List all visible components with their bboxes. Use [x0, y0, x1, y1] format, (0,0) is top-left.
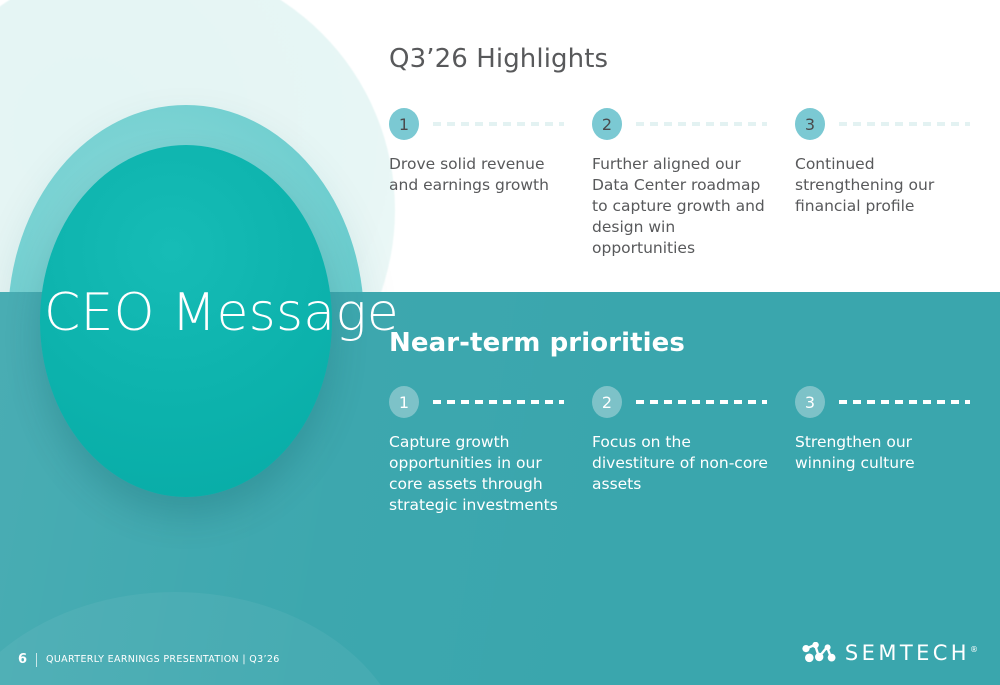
semtech-wordmark: SEMTECH® — [845, 641, 978, 665]
trademark-symbol: ® — [970, 645, 978, 654]
dashed-connector — [636, 400, 767, 404]
highlights-section: Q3’26 Highlights 1 Drove solid revenue a… — [389, 44, 1000, 259]
priority-item-head: 3 — [795, 386, 972, 418]
highlights-items: 1 Drove solid revenue and earnings growt… — [389, 108, 1000, 259]
footer-caption: QUARTERLY EARNINGS PRESENTATION | Q3’26 — [46, 654, 280, 665]
priority-item-head: 2 — [592, 386, 769, 418]
highlight-badge-2: 2 — [592, 108, 622, 140]
highlight-item: 1 Drove solid revenue and earnings growt… — [389, 108, 592, 196]
dashed-connector — [839, 122, 970, 126]
hero-title: CEO Message — [44, 283, 399, 343]
priority-item-head: 1 — [389, 386, 566, 418]
semtech-molecule-icon — [802, 642, 836, 664]
highlight-text-3: Continued strengthening our financial pr… — [795, 154, 972, 217]
highlight-item-head: 3 — [795, 108, 972, 140]
slide-footer: 6 QUARTERLY EARNINGS PRESENTATION | Q3’2… — [18, 652, 280, 667]
semtech-logo: SEMTECH® — [802, 641, 978, 665]
highlight-item: 3 Continued strengthening our financial … — [795, 108, 998, 217]
priorities-title: Near-term priorities — [389, 328, 1000, 358]
priority-item: 2 Focus on the divestiture of non-core a… — [592, 386, 795, 495]
priority-badge-1: 1 — [389, 386, 419, 418]
dashed-connector — [433, 122, 564, 126]
highlight-badge-3: 3 — [795, 108, 825, 140]
priority-item: 3 Strengthen our winning culture — [795, 386, 998, 474]
semtech-wordmark-text: SEMTECH — [845, 641, 970, 665]
priority-item: 1 Capture growth opportunities in our co… — [389, 386, 592, 516]
priority-text-1: Capture growth opportunities in our core… — [389, 432, 566, 516]
highlights-title: Q3’26 Highlights — [389, 44, 1000, 74]
dashed-connector — [839, 400, 970, 404]
priority-badge-2: 2 — [592, 386, 622, 418]
priorities-section: Near-term priorities 1 Capture growth op… — [389, 328, 1000, 516]
highlight-badge-1: 1 — [389, 108, 419, 140]
highlight-item: 2 Further aligned our Data Center roadma… — [592, 108, 795, 259]
highlight-item-head: 2 — [592, 108, 769, 140]
dashed-connector — [636, 122, 767, 126]
slide-canvas: CEO Message Q3’26 Highlights 1 Drove sol… — [0, 0, 1000, 685]
priority-text-3: Strengthen our winning culture — [795, 432, 972, 474]
footer-divider — [36, 653, 37, 667]
dashed-connector — [433, 400, 564, 404]
highlight-item-head: 1 — [389, 108, 566, 140]
highlight-text-2: Further aligned our Data Center roadmap … — [592, 154, 769, 259]
priorities-items: 1 Capture growth opportunities in our co… — [389, 386, 1000, 516]
background-circle-ghost-a — [0, 592, 410, 685]
page-number: 6 — [18, 652, 27, 667]
priority-badge-3: 3 — [795, 386, 825, 418]
priority-text-2: Focus on the divestiture of non-core ass… — [592, 432, 769, 495]
highlight-text-1: Drove solid revenue and earnings growth — [389, 154, 566, 196]
